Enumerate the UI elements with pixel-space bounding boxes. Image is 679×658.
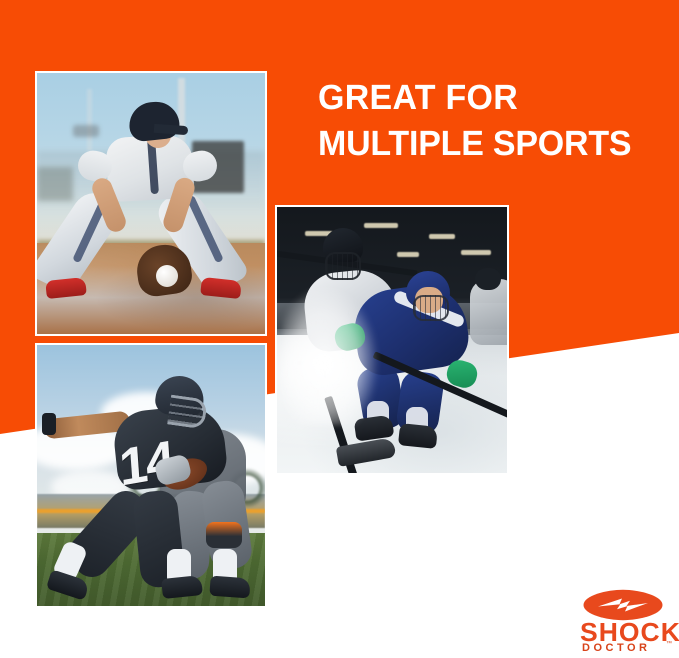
hockey-cage-white-player xyxy=(325,252,361,280)
baseball-helmet xyxy=(127,99,181,142)
football-wristband xyxy=(42,413,56,435)
promo-banner: GREAT FOR MULTIPLE SPORTS xyxy=(0,0,679,658)
hockey-arena-light xyxy=(461,250,491,255)
baseball-scene xyxy=(37,73,265,334)
hockey-arena-light xyxy=(429,234,455,239)
football-cleat xyxy=(210,576,251,599)
photo-baseball xyxy=(35,71,267,336)
page-title: GREAT FOR MULTIPLE SPORTS xyxy=(318,75,638,167)
photo-football: 14 xyxy=(35,343,267,608)
headline-line-2: MULTIPLE SPORTS xyxy=(318,121,638,167)
baseball-ball xyxy=(156,265,178,287)
hockey-arena-light xyxy=(364,223,398,228)
brand-logo: SHOCK DOCTOR ™ xyxy=(578,589,673,658)
hockey-helmet-far xyxy=(475,268,501,290)
hockey-scene xyxy=(277,207,507,473)
hockey-skate-right xyxy=(398,423,438,449)
hockey-ice-spray xyxy=(282,287,379,425)
football-scene: 14 xyxy=(37,345,265,606)
baseball-cleat-left xyxy=(45,277,87,299)
logo-trademark: ™ xyxy=(666,641,672,647)
baseball-cleat-right xyxy=(200,277,242,299)
headline-line-1: GREAT FOR xyxy=(318,75,638,121)
baseball-player xyxy=(37,73,265,334)
hockey-cage-blue-player xyxy=(413,295,449,321)
football-knee-brace xyxy=(206,522,242,548)
photo-hockey xyxy=(275,205,509,475)
hockey-arena-light xyxy=(397,252,419,257)
logo-subwordmark: DOCTOR xyxy=(582,642,674,654)
